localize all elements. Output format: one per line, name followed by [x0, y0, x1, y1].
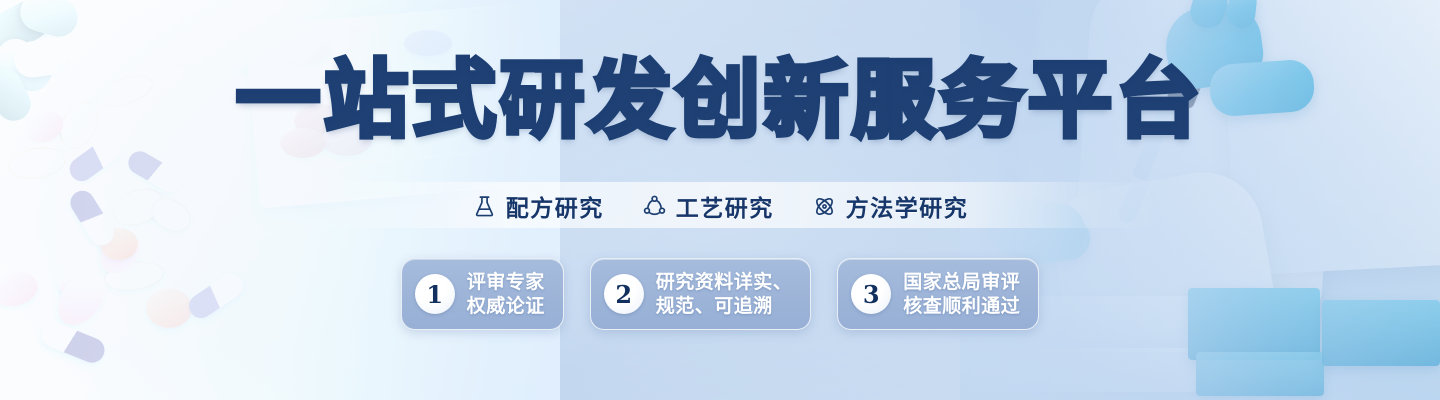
promo-banner: 一站式研发创新服务平台 配方研究 — [0, 0, 1440, 400]
feature-number-badge: 3 — [851, 274, 891, 314]
feature-line-2: 核查顺利通过 — [903, 295, 1020, 318]
service-item-formulation[interactable]: 配方研究 — [472, 189, 604, 223]
service-item-methodology[interactable]: 方法学研究 — [812, 189, 969, 223]
feature-box-3[interactable]: 3 国家总局审评 核查顺利通过 — [837, 258, 1039, 330]
feature-number-badge: 1 — [415, 274, 455, 314]
feature-line-1: 国家总局审评 — [903, 271, 1020, 294]
flask-icon — [472, 194, 497, 219]
feature-line-2: 权威论证 — [467, 295, 545, 318]
service-item-label: 配方研究 — [506, 189, 604, 223]
atom-icon — [812, 194, 837, 219]
feature-text: 国家总局审评 核查顺利通过 — [903, 271, 1020, 318]
feature-box-1[interactable]: 1 评审专家 权威论证 — [401, 258, 564, 330]
feature-line-1: 研究资料详实、 — [656, 271, 793, 294]
service-list: 配方研究 工艺研究 — [0, 186, 1440, 226]
feature-number-badge: 2 — [604, 274, 644, 314]
molecule-icon — [642, 194, 667, 219]
feature-text: 评审专家 权威论证 — [467, 271, 545, 318]
feature-box-list: 1 评审专家 权威论证 2 研究资料详实、 规范、可追溯 3 国家总局审评 核查… — [0, 258, 1440, 330]
feature-text: 研究资料详实、 规范、可追溯 — [656, 271, 793, 318]
feature-line-1: 评审专家 — [467, 271, 545, 294]
service-item-process[interactable]: 工艺研究 — [642, 189, 774, 223]
service-item-label: 工艺研究 — [676, 189, 774, 223]
feature-line-2: 规范、可追溯 — [656, 295, 793, 318]
feature-box-2[interactable]: 2 研究资料详实、 规范、可追溯 — [590, 258, 812, 330]
banner-title: 一站式研发创新服务平台 — [0, 58, 1440, 142]
service-item-label: 方法学研究 — [846, 189, 969, 223]
banner-title-text: 一站式研发创新服务平台 — [236, 51, 1204, 149]
